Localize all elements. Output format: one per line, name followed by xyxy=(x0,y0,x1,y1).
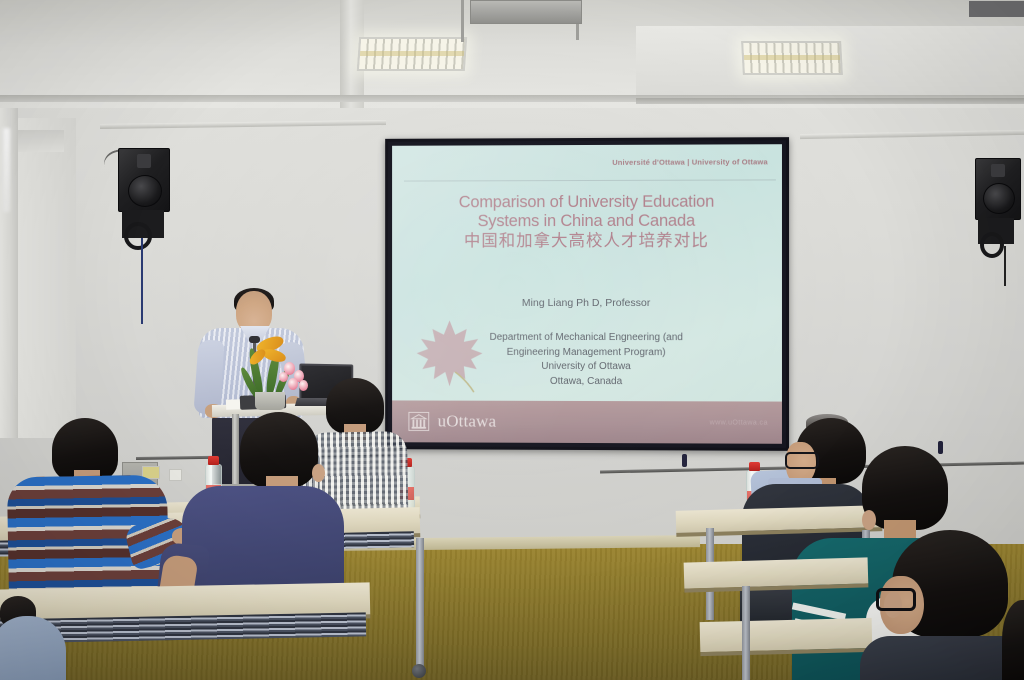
lectern-stem xyxy=(232,414,239,488)
pink-flower xyxy=(288,378,298,390)
projector-rod xyxy=(461,0,464,42)
affiliation-line-2: Engineering Management Program) xyxy=(507,346,666,357)
pink-flower xyxy=(299,380,308,391)
pink-flower xyxy=(279,372,288,382)
presentation-slide: Université d'Ottawa | University of Otta… xyxy=(392,144,782,444)
attendee-ear xyxy=(862,510,876,530)
desk-leg xyxy=(742,586,750,680)
wall-recess xyxy=(18,130,64,152)
wall-speaker-right-icon xyxy=(975,158,1021,220)
slide-footer: uOttawa www.uOttawa.ca xyxy=(392,400,782,443)
wall-outlet xyxy=(169,469,182,481)
microphone-icon xyxy=(249,336,260,343)
hanging-cable-coil-right xyxy=(980,232,1004,258)
hanging-cable-right xyxy=(1004,246,1006,286)
projection-screen: Université d'Ottawa | University of Otta… xyxy=(385,137,789,451)
uottawa-url: www.uOttawa.ca xyxy=(710,419,768,426)
speaker-tweeter xyxy=(137,154,151,168)
slide-title: Comparison of University Education Syste… xyxy=(392,192,782,252)
attendee-torso xyxy=(860,636,1024,680)
uottawa-building-icon xyxy=(408,411,430,431)
ceiling-light-left-icon xyxy=(357,37,467,71)
bottle-cap xyxy=(208,456,219,465)
desk-caster xyxy=(412,664,426,678)
rail-marker xyxy=(938,441,943,454)
speaker-cone xyxy=(983,183,1015,214)
slide-header-text: Université d'Ottawa | University of Otta… xyxy=(612,157,768,167)
screen-glare xyxy=(392,144,782,444)
desk-row-frontmost-right xyxy=(700,618,873,656)
wall-speaker-left-icon xyxy=(118,148,170,212)
ceiling-edge-right xyxy=(636,98,1024,104)
speaker-cone xyxy=(128,175,162,207)
affiliation-line-4: Ottawa, Canada xyxy=(550,375,622,386)
hanging-cable-coil-left xyxy=(124,222,152,250)
hanging-cable-left xyxy=(141,238,143,324)
slide-header: Université d'Ottawa | University of Otta… xyxy=(392,144,782,179)
student-ear xyxy=(312,464,325,482)
ceiling-projector-mount xyxy=(470,0,582,24)
slide-affiliation: Department of Mechanical Engneering (and… xyxy=(392,331,782,390)
rail-marker xyxy=(682,454,687,467)
window-light-strip xyxy=(3,128,10,212)
slide-divider xyxy=(404,179,776,181)
slide-title-line2: Systems in China and Canada xyxy=(478,212,695,230)
flower-vase xyxy=(255,392,285,410)
eyeglasses-icon xyxy=(876,588,916,611)
classroom-photo: Université d'Ottawa | University of Otta… xyxy=(0,0,1024,680)
projector-icon xyxy=(969,1,1024,17)
ceiling-light-right-icon xyxy=(741,41,843,75)
slide-title-chinese: 中国和加拿大高校人才培养对比 xyxy=(392,231,782,253)
desk-leg xyxy=(416,538,424,670)
slide-author: Ming Liang Ph D, Professor xyxy=(392,297,782,309)
bottle-cap xyxy=(749,462,760,471)
desk-row-front-right xyxy=(684,557,869,592)
slide-title-line1: Comparison of University Education xyxy=(459,193,714,212)
uottawa-wordmark: uOttawa xyxy=(438,412,497,432)
affiliation-line-1: Department of Mechanical Engneering (and xyxy=(490,332,683,343)
speaker-tweeter xyxy=(991,164,1005,177)
wall-column-left xyxy=(18,118,76,438)
affiliation-line-3: University of Ottawa xyxy=(541,361,630,372)
eyeglasses-icon xyxy=(785,452,819,469)
